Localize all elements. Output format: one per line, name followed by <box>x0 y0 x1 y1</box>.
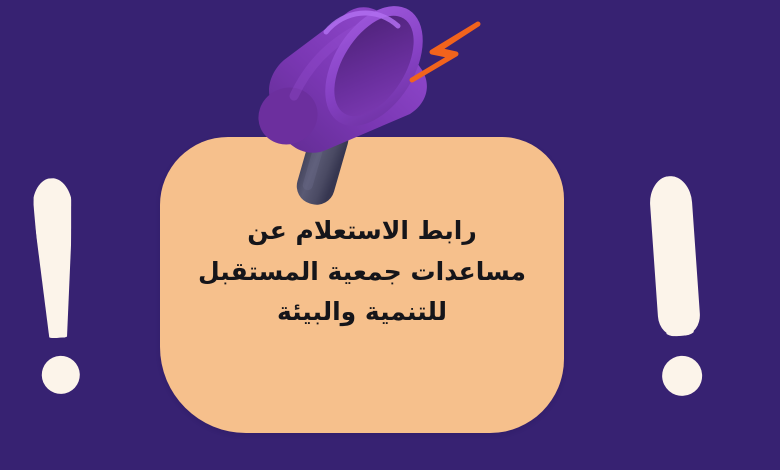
exclamation-dot <box>661 355 704 398</box>
card-headline: رابط الاستعلام عن مساعدات جمعية المستقبل… <box>160 211 564 333</box>
announcement-banner: رابط الاستعلام عن مساعدات جمعية المستقبل… <box>0 0 780 470</box>
exclamation-mark-icon-left <box>31 177 81 399</box>
lightning-bolt-icon <box>408 16 482 88</box>
exclamation-stroke <box>648 175 701 338</box>
headline-line-1: رابط الاستعلام عن <box>178 211 546 252</box>
exclamation-dot <box>41 355 81 395</box>
exclamation-stroke <box>31 177 78 339</box>
exclamation-mark-icon-right <box>648 175 706 401</box>
headline-line-2: مساعدات جمعية المستقبل <box>178 252 546 293</box>
headline-line-3: للتنمية والبيئة <box>178 292 546 333</box>
